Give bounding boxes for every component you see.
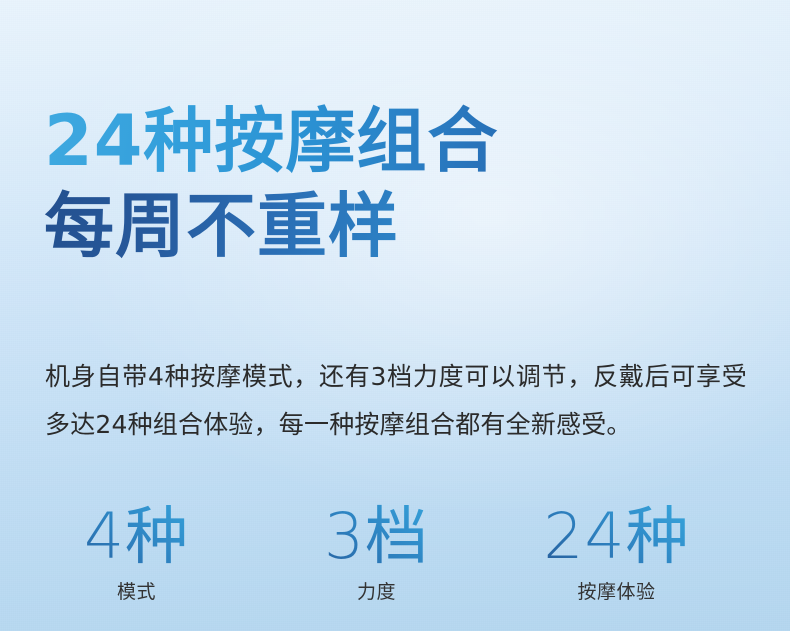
- headline-line-1: 24种按摩组合: [44, 99, 744, 184]
- stat-label-intensity: 力度: [258, 579, 495, 605]
- stat-item-experience: 24种 按摩体验: [498, 497, 735, 605]
- headline-line-2: 每周不重样: [44, 184, 744, 269]
- product-marketing-banner: 24种按摩组合 每周不重样 机身自带4种按摩模式，还有3档力度可以调节，反戴后可…: [0, 0, 790, 631]
- stat-value-experience: 24种: [498, 497, 735, 577]
- stat-item-intensity: 3档 力度: [258, 497, 495, 605]
- stat-item-modes: 4种 模式: [18, 497, 255, 605]
- stats-row: 4种 模式 3档 力度 24种 按摩体验: [18, 497, 772, 605]
- stat-label-modes: 模式: [18, 579, 255, 605]
- stat-value-modes: 4种: [18, 497, 255, 577]
- stat-label-experience: 按摩体验: [498, 579, 735, 605]
- headline-block: 24种按摩组合 每周不重样: [44, 99, 744, 269]
- description-paragraph: 机身自带4种按摩模式，还有3档力度可以调节，反戴后可享受多达24种组合体验，每一…: [45, 353, 747, 449]
- stat-value-intensity: 3档: [258, 497, 495, 577]
